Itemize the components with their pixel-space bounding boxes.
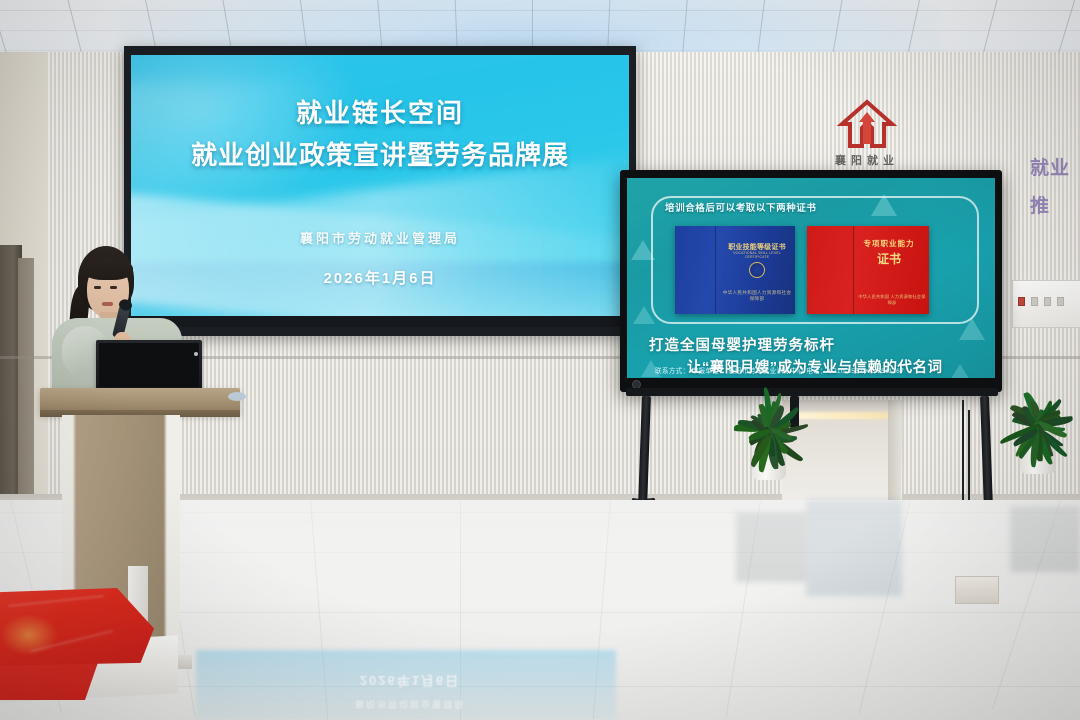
- plant-foliage-left: [724, 398, 816, 448]
- wall-right-line2: 推: [1030, 188, 1080, 226]
- podium-mic-clip[interactable]: [228, 392, 246, 401]
- cert-red-title: 专项职业能力: [857, 238, 921, 249]
- panel-switch-3[interactable]: [1044, 297, 1051, 306]
- laptop-indicator-icon: [194, 352, 198, 356]
- certificate-red: 专项职业能力 证书 中华人民共和国 人力资源和社会保障部: [807, 226, 929, 314]
- plant-foliage-right: [992, 390, 1080, 442]
- corridor-pillar: [888, 400, 901, 508]
- podium-laptop[interactable]: [96, 340, 202, 390]
- presenter-eye-right: [110, 286, 117, 289]
- floor-reflection-date: 2026年1月6日: [300, 672, 520, 691]
- panel-switch-row: [1018, 297, 1064, 306]
- presentation-room-photo: 襄阳就业 就业 推 就业链长空间 就业创业政策宣讲暨劳务品牌展 襄阳市劳动就业管…: [0, 0, 1080, 720]
- slide-organizer: 襄阳市劳动就业管理局: [300, 228, 460, 247]
- slide-title-line2: 就业创业政策宣讲暨劳务品牌展: [191, 135, 569, 172]
- ceiling-grid-line: [0, 30, 1080, 31]
- tv-stand-crossbar: [626, 388, 998, 396]
- triangle-decor-right2: [949, 364, 971, 378]
- projection-screen-frame: 就业链长空间 就业创业政策宣讲暨劳务品牌展 襄阳市劳动就业管理局 2026年1月…: [124, 46, 636, 336]
- tv-slogan-line1: 打造全国母婴护理劳务标杆: [649, 334, 835, 355]
- presenter-mouth: [102, 302, 113, 306]
- wall-brand-logo: 襄阳就业: [812, 98, 922, 176]
- floor-equipment-box: [955, 576, 999, 604]
- cert-fold-line: [853, 226, 854, 314]
- panel-switch-4[interactable]: [1057, 297, 1064, 306]
- tv-screen[interactable]: 培训合格后可以考取以下两种证书 职业技能等级证书 VOCATIONAL SKIL…: [627, 178, 995, 378]
- laptop-screen[interactable]: [99, 343, 199, 387]
- cert-fold-line: [715, 226, 716, 314]
- presenter-fringe: [83, 258, 133, 280]
- certificate-blue: 职业技能等级证书 VOCATIONAL SKILL LEVEL CERTIFIC…: [675, 226, 795, 314]
- cert-red-bigtext: 证书: [857, 252, 921, 266]
- cert-red-footer: 中华人民共和国 人力资源和社会保障部: [857, 294, 927, 306]
- tv-heading: 培训合格后可以考取以下两种证书: [665, 200, 817, 214]
- wall-right-line1: 就业: [1030, 150, 1080, 188]
- slide-date: 2026年1月6日: [323, 267, 436, 288]
- cert-blue-subtitle: VOCATIONAL SKILL LEVEL CERTIFICATE: [721, 251, 793, 259]
- floor-reflection-corridor: [806, 500, 902, 596]
- slide-title-line1: 就业链长空间: [296, 93, 464, 130]
- projection-screen: 就业链长空间 就业创业政策宣讲暨劳务品牌展 襄阳市劳动就业管理局 2026年1月…: [131, 55, 629, 327]
- panel-switch-1[interactable]: [1018, 297, 1025, 306]
- tv-contact-line: 联系方式： 申报单位： 襄阳市劳动就业训练中心 电话： 0710-3537900…: [655, 365, 904, 375]
- floor-reflection-plant-left: [736, 512, 806, 582]
- screen-bottom-band: [131, 316, 629, 327]
- ceiling-grid-line: [0, 10, 1080, 11]
- microphone-head: [118, 298, 133, 312]
- floor-reflection-plant-right: [1010, 506, 1080, 572]
- red-cloth-gold-pattern: [0, 614, 58, 656]
- panel-switch-2[interactable]: [1031, 297, 1038, 306]
- projection-text-block: 就业链长空间 就业创业政策宣讲暨劳务品牌展 襄阳市劳动就业管理局 2026年1月…: [131, 55, 629, 327]
- presenter-eye-left: [94, 286, 101, 289]
- wall-right-slogan: 就业 推: [1030, 150, 1080, 226]
- cert-blue-footer: 中华人民共和国人力资源和社会保障部: [721, 290, 793, 302]
- tv-bezel: 培训合格后可以考取以下两种证书 职业技能等级证书 VOCATIONAL SKIL…: [620, 170, 1002, 392]
- cert-blue-emblem-icon: [749, 262, 765, 278]
- house-arrow-icon: [812, 98, 922, 150]
- floor-reflection-org: 襄阳市劳动就业管理局: [270, 698, 550, 711]
- wall-control-panel[interactable]: [1012, 280, 1080, 328]
- wall-logo-text: 襄阳就业: [812, 152, 922, 168]
